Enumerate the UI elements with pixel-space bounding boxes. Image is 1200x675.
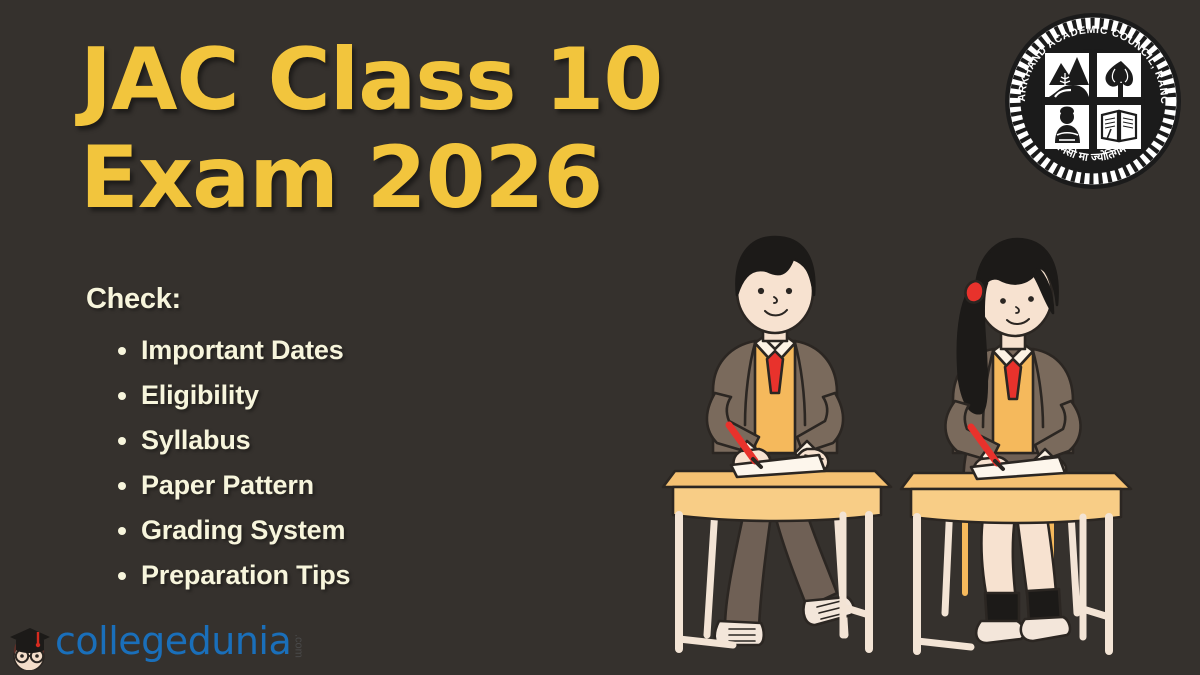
girl-student: [901, 239, 1131, 651]
collegedunia-wordmark: collegedunia: [55, 620, 291, 662]
title-line-2: Exam 2026: [80, 136, 780, 220]
seal-open-book-icon: [1102, 111, 1136, 141]
graduate-cap-mascot-icon: [8, 620, 52, 670]
jac-seal-logo: JHARKHAND ACADEMIC COUNCIL, RANCHI तमसो …: [1003, 11, 1183, 191]
collegedunia-logo[interactable]: collegedunia .com: [8, 620, 238, 675]
check-heading: Check:: [86, 283, 350, 316]
list-item: Paper Pattern: [86, 463, 350, 508]
check-item-list: Important Dates Eligibility Syllabus Pap…: [86, 328, 350, 598]
poster-canvas: JAC Class 10 Exam 2026 Check: Important …: [0, 0, 1200, 675]
list-item: Important Dates: [86, 328, 350, 373]
boy-student: [663, 237, 891, 649]
collegedunia-tld: .com: [292, 634, 304, 658]
check-section: Check: Important Dates Eligibility Sylla…: [86, 283, 350, 598]
list-item: Syllabus: [86, 418, 350, 463]
page-title: JAC Class 10 Exam 2026: [80, 38, 780, 221]
students-illustration: [655, 215, 1200, 675]
title-line-1: JAC Class 10: [80, 38, 780, 122]
list-item: Grading System: [86, 508, 350, 553]
list-item: Preparation Tips: [86, 553, 350, 598]
list-item: Eligibility: [86, 373, 350, 418]
